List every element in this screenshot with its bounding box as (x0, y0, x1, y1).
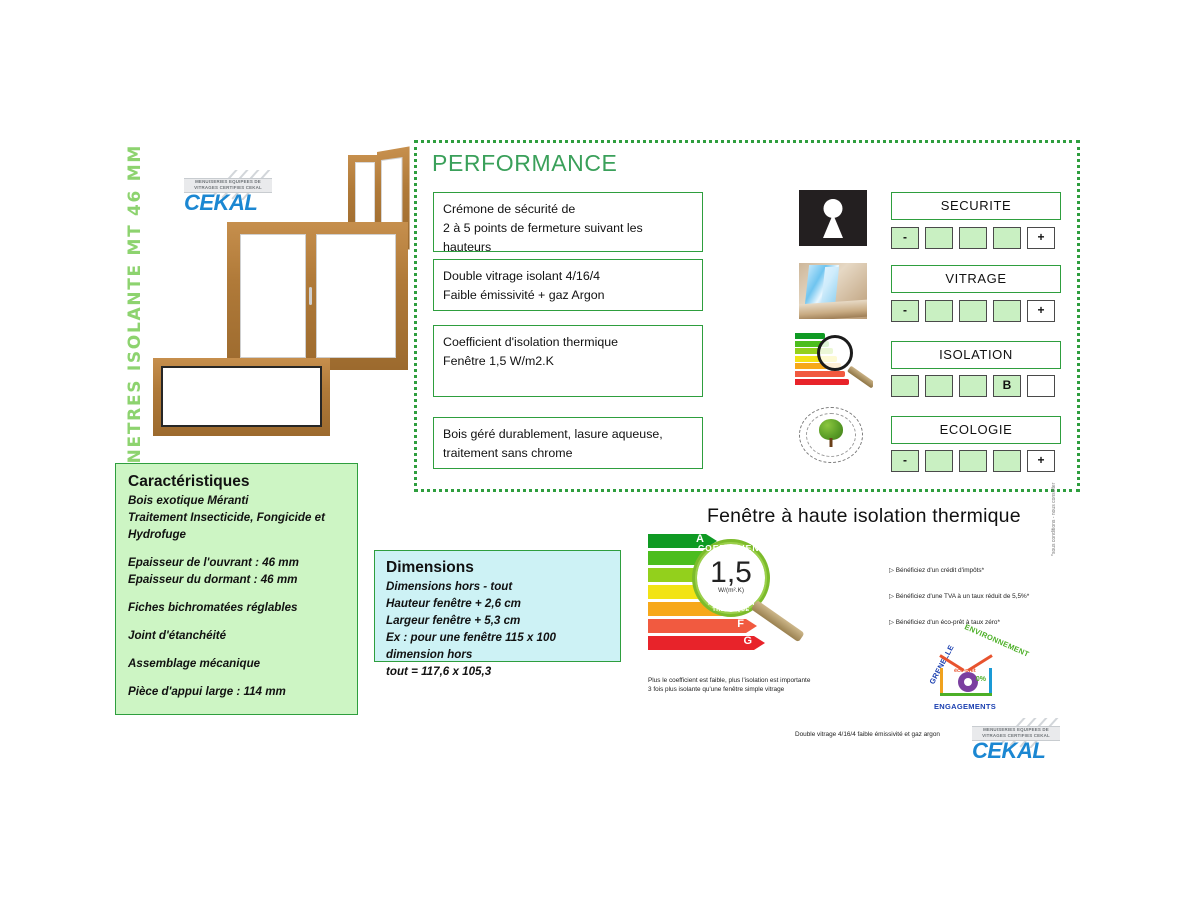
rating-squares-vitrage: - + (891, 300, 1055, 322)
rating-square[interactable] (959, 227, 987, 249)
coefficient-magnifier: COEFFICIENT 1,5 W/(m².K) TRANSMISSION TH… (692, 539, 774, 621)
chart-footnote: Plus le coefficient est faible, plus l'i… (648, 676, 810, 694)
promo-bullet-marker: ▷ (889, 593, 894, 600)
energy-band-g: G (648, 636, 754, 650)
rating-squares-isolation: B (891, 375, 1055, 397)
rating-square[interactable] (925, 227, 953, 249)
rating-square[interactable] (891, 375, 919, 397)
pefc-tree-icon (797, 405, 865, 465)
promo-side-note: *sous conditions - nous consulter (1051, 446, 1063, 556)
rating-squares-ecologie: - + (891, 450, 1055, 472)
promo-bullet-3: ▷ Bénéficiez d'un éco-prêt à taux zéro* (889, 618, 1000, 626)
rating-square-active[interactable]: B (993, 375, 1021, 397)
grenelle-environnement-logo: GRENELLE ENVIRONNEMENT ENGAGEMENTS éco-p… (918, 634, 1014, 716)
feature-line: Bois géré durablement, lasure aqueuse, (443, 425, 693, 444)
caracteristiques-title: Caractéristiques (128, 473, 345, 491)
caracteristiques-line: Fiches bichromatées réglables (128, 599, 345, 616)
feature-box-thermal-coefficient: Coefficient d'isolation thermique Fenêtr… (433, 325, 703, 397)
magnifier-lens-icon (817, 335, 853, 371)
rating-square[interactable] (925, 450, 953, 472)
rating-square[interactable] (925, 300, 953, 322)
performance-panel-title: PERFORMANCE (432, 150, 618, 177)
caracteristiques-line: Hydrofuge (128, 526, 345, 543)
rating-square[interactable]: - (891, 300, 919, 322)
caracteristiques-line: Traitement Insecticide, Fongicide et (128, 509, 345, 526)
rating-square[interactable]: - (891, 227, 919, 249)
coefficient-arc-top-label: COEFFICIENT (698, 543, 764, 553)
feature-line: Coefficient d'isolation thermique (443, 333, 693, 352)
feature-line: 2 à 5 points de fermeture suivant les (443, 219, 693, 238)
grenelle-word-bottom: ENGAGEMENTS (934, 702, 996, 711)
feature-box-cremone: Crémone de sécurité de 2 à 5 points de f… (433, 192, 703, 252)
vertical-product-title: FENETRES ISOLANTE MT 46 MM (122, 160, 148, 490)
cekal-logo-wordmark: CEKAL (972, 738, 1045, 764)
vertical-product-title-text: FENETRES ISOLANTE MT 46 MM (122, 160, 148, 490)
rating-square[interactable] (959, 450, 987, 472)
keyhole-icon (799, 190, 867, 246)
dimensions-line: Dimensions hors - tout (386, 578, 609, 595)
grenelle-percent: 0% (976, 676, 986, 683)
rating-square[interactable] (925, 375, 953, 397)
chart-footnote-line: 3 fois plus isolante qu'une fenêtre simp… (648, 685, 810, 694)
energy-magnifier-icon (795, 333, 873, 395)
coefficient-value: 1,5 (692, 556, 770, 590)
rating-square[interactable] (959, 375, 987, 397)
promo-bullet-2: ▷ Bénéficiez d'une TVA à un taux réduit … (889, 592, 1029, 600)
promo-bullet-text: Bénéficiez d'un crédit d'impôts* (896, 567, 984, 574)
rating-square[interactable] (993, 300, 1021, 322)
glazing-icon (799, 263, 867, 319)
promo-bullet-marker: ▷ (889, 619, 894, 626)
caracteristiques-line: Assemblage mécanique (128, 655, 345, 672)
rating-square[interactable] (993, 450, 1021, 472)
energy-band-f: F (648, 619, 746, 633)
grenelle-house-icon: éco-prêt 0% (940, 654, 992, 696)
dimensions-box: Dimensions Dimensions hors - tout Hauteu… (374, 550, 621, 662)
dimensions-line: Largeur fenêtre + 5,3 cm (386, 612, 609, 629)
coefficient-unit: W/(m².K) (692, 587, 770, 594)
rating-label-isolation: ISOLATION (891, 341, 1061, 369)
caracteristiques-box: Caractéristiques Bois exotique Méranti T… (115, 463, 358, 715)
feature-line: Fenêtre 1,5 W/m2.K (443, 352, 693, 371)
rating-square[interactable] (1027, 375, 1055, 397)
caracteristiques-line: Epaisseur de l'ouvrant : 46 mm (128, 554, 345, 571)
chart-footnote-line: Plus le coefficient est faible, plus l'i… (648, 676, 810, 685)
dimensions-line: Ex : pour une fenêtre 115 x 100 dimensio… (386, 629, 609, 663)
rating-squares-securite: - + (891, 227, 1055, 249)
dimensions-line: tout = 117,6 x 105,3 (386, 663, 609, 680)
feature-line: hauteurs (443, 238, 693, 257)
cekal-logo-top: MENUISERIES EQUIPEES DE VITRAGES CERTIFI… (178, 170, 288, 218)
promo-title: Fenêtre à haute isolation thermique (707, 505, 1021, 528)
promo-bullet-text: Bénéficiez d'une TVA à un taux réduit de… (896, 593, 1030, 600)
caracteristiques-line: Pièce d'appui large : 114 mm (128, 683, 345, 700)
poster-page: FENETRES ISOLANTE MT 46 MM MENUISERIES E… (0, 0, 1202, 901)
feature-line: Crémone de sécurité de (443, 200, 693, 219)
rating-square[interactable] (959, 300, 987, 322)
caracteristiques-line: Bois exotique Méranti (128, 492, 345, 509)
feature-line: Double vitrage isolant 4/16/4 (443, 267, 693, 286)
cekal-logo-footer: MENUISERIES EQUIPEES DE VITRAGES CERTIFI… (966, 718, 1076, 766)
rating-label-ecologie: ECOLOGIE (891, 416, 1061, 444)
rating-label-securite: SECURITE (891, 192, 1061, 220)
rating-square[interactable]: + (1027, 300, 1055, 322)
energy-band-label: G (743, 635, 752, 647)
promo-bullet-marker: ▷ (889, 567, 894, 574)
promo-bullet-1: ▷ Bénéficiez d'un crédit d'impôts* (889, 566, 984, 574)
window-handle (309, 287, 312, 305)
cekal-logo-wordmark: CEKAL (184, 190, 257, 216)
dimensions-title: Dimensions (386, 559, 609, 577)
caracteristiques-line: Joint d'étanchéité (128, 627, 345, 644)
feature-box-double-glazing: Double vitrage isolant 4/16/4 Faible émi… (433, 259, 703, 311)
promo-bullet-text: Bénéficiez d'un éco-prêt à taux zéro* (896, 619, 1000, 626)
feature-line: Faible émissivité + gaz Argon (443, 286, 693, 305)
footer-note: Double vitrage 4/16/4 faible émissivité … (795, 731, 940, 738)
rating-label-vitrage: VITRAGE (891, 265, 1061, 293)
rating-square[interactable]: + (1027, 227, 1055, 249)
feature-box-sustainable-wood: Bois géré durablement, lasure aqueuse, t… (433, 417, 703, 469)
magnifier-handle-icon (847, 366, 873, 389)
feature-line: traitement sans chrome (443, 444, 693, 463)
rating-square[interactable] (993, 227, 1021, 249)
caracteristiques-line: Epaisseur du dormant : 46 mm (128, 571, 345, 588)
rating-square[interactable]: - (891, 450, 919, 472)
dimensions-line: Hauteur fenêtre + 2,6 cm (386, 595, 609, 612)
